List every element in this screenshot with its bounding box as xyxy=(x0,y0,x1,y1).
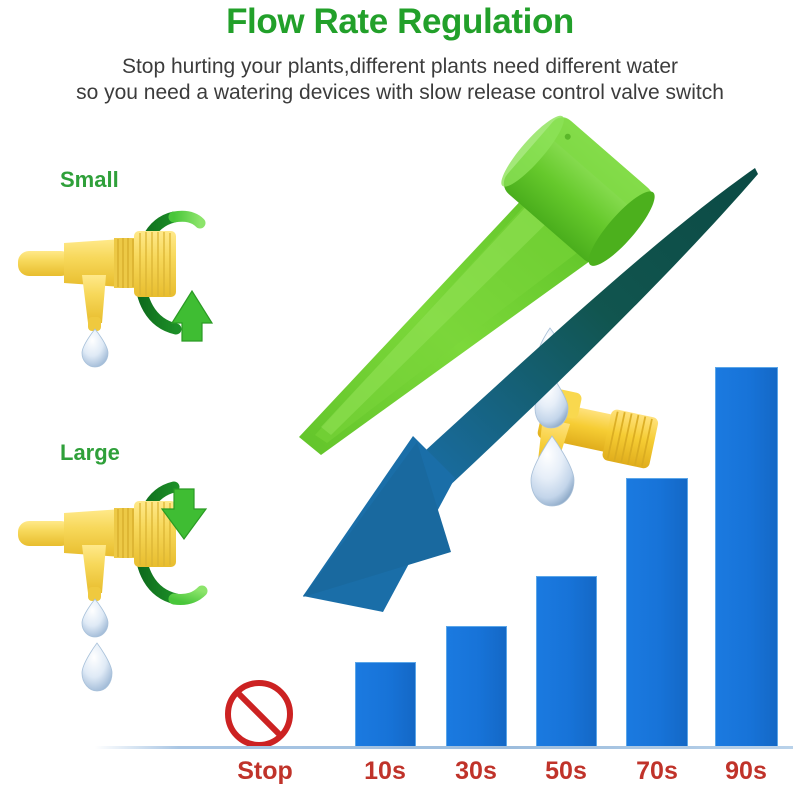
bar-label-90s: 90s xyxy=(725,757,767,786)
infographic-canvas: Flow Rate Regulation Stop hurting your p… xyxy=(0,0,800,800)
bar-label-70s: 70s xyxy=(636,757,678,786)
bar-label-30s: 30s xyxy=(455,757,497,786)
bar-10s xyxy=(355,662,416,747)
chart-baseline-axis xyxy=(95,746,793,749)
bar-30s xyxy=(446,626,507,747)
bar-90s xyxy=(715,367,778,747)
bar-70s xyxy=(626,478,688,747)
bar-chart: Stop 10s 30s 50s 70s 90s xyxy=(0,0,800,800)
bar-label-10s: 10s xyxy=(364,757,406,786)
bar-label-stop: Stop xyxy=(237,757,293,786)
bar-50s xyxy=(536,576,597,747)
bar-label-50s: 50s xyxy=(545,757,587,786)
